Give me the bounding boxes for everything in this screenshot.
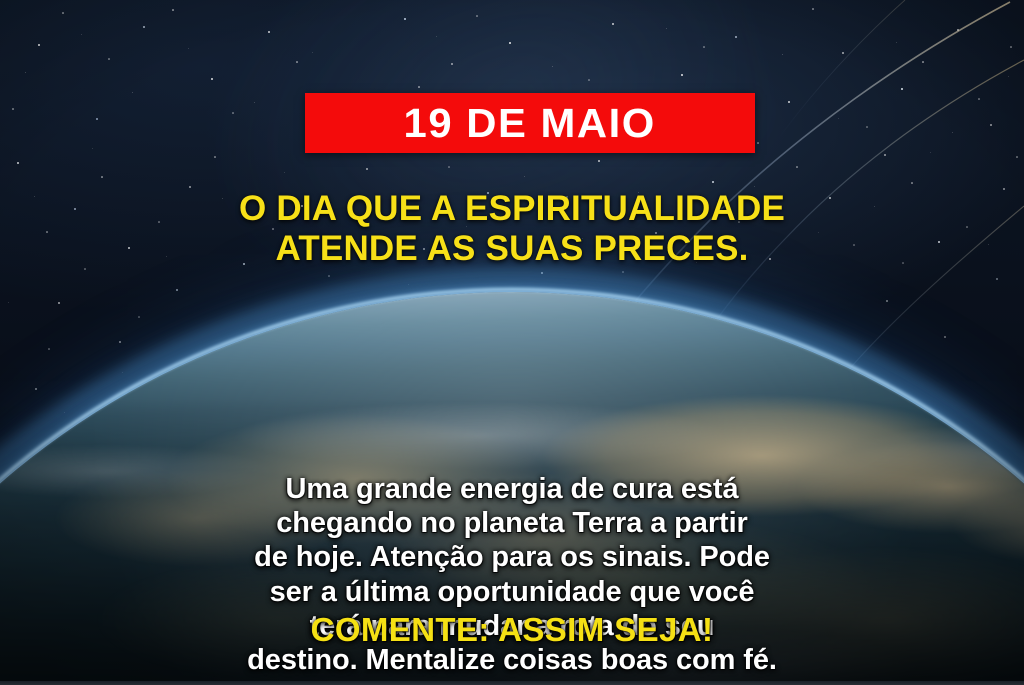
poster-content: 19 DE MAIO O DIA QUE A ESPIRITUALIDADE A… [0, 0, 1024, 685]
date-banner: 19 DE MAIO [305, 93, 755, 153]
page-title: O DIA QUE A ESPIRITUALIDADE ATENDE AS SU… [0, 189, 1024, 268]
date-banner-label: 19 DE MAIO [404, 103, 656, 144]
poster-canvas: 19 DE MAIO O DIA QUE A ESPIRITUALIDADE A… [0, 0, 1024, 685]
call-to-action-text: COMENTE: ASSIM SEJA! [0, 613, 1024, 646]
